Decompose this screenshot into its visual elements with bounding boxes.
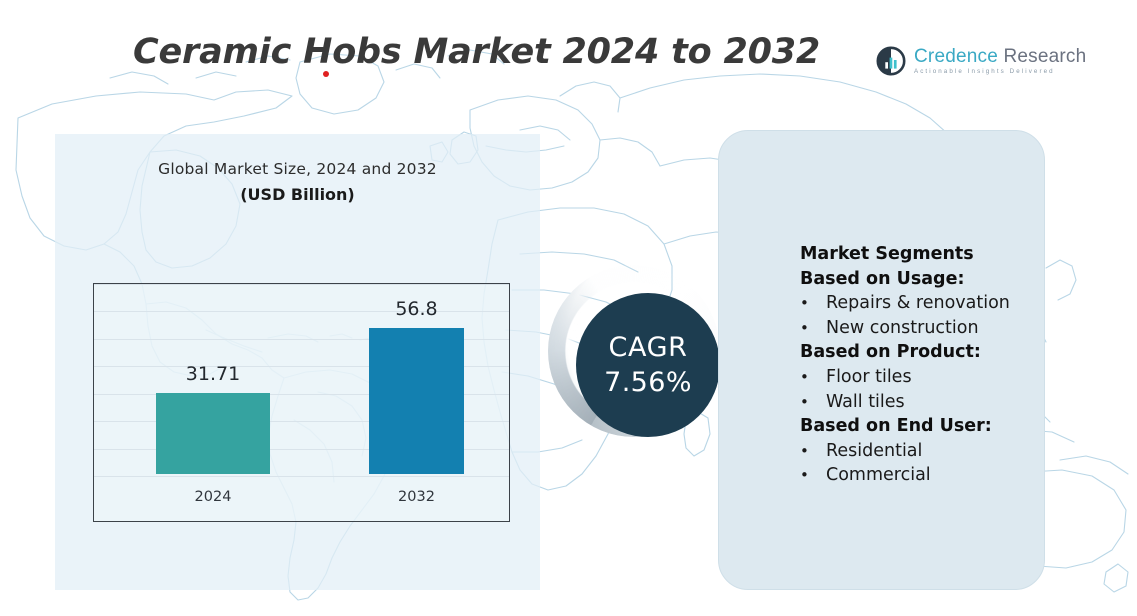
logo-name: Credence Research — [914, 47, 1086, 66]
bullet-icon: • — [800, 390, 826, 415]
segment-list-item: •New construction — [800, 316, 1060, 341]
segment-item-label: Repairs & renovation — [826, 291, 1010, 316]
chart-bar — [156, 393, 270, 474]
logo-text: Credence Research Actionable Insights De… — [914, 47, 1086, 75]
bar-category-label: 2032 — [369, 489, 464, 505]
segment-list-item: •Repairs & renovation — [800, 291, 1060, 316]
page-title: Ceramic Hobs Market 2024 to 2032 — [133, 32, 820, 72]
segment-item-label: Commercial — [826, 463, 931, 488]
chart-heading: Global Market Size, 2024 and 2032 (USD B… — [55, 160, 540, 204]
bar-category-label: 2024 — [156, 489, 270, 505]
cagr-label: CAGR — [609, 332, 688, 363]
logo-tagline: Actionable Insights Delivered — [914, 69, 1086, 75]
segment-item-label: Wall tiles — [826, 390, 905, 415]
segment-item-label: New construction — [826, 316, 979, 341]
bar-chart-circle-icon — [876, 46, 906, 76]
segments-list: Market SegmentsBased on Usage:•Repairs &… — [800, 242, 1060, 488]
bullet-icon: • — [800, 291, 826, 316]
chart-plot-area: 31.71202456.82032 — [94, 284, 509, 521]
cagr-value: 7.56% — [604, 367, 692, 398]
chart-bar — [369, 328, 464, 474]
bar-group: 31.712024 — [156, 393, 270, 474]
bar-value-label: 31.71 — [156, 363, 270, 385]
bullet-icon: • — [800, 316, 826, 341]
segment-group-heading: Based on Usage: — [800, 267, 1060, 292]
cagr-circle: CAGR 7.56% — [576, 293, 720, 437]
infographic-canvas: Ceramic Hobs Market 2024 to 2032 Credenc… — [0, 0, 1137, 616]
bullet-icon: • — [800, 439, 826, 464]
segment-list-item: •Floor tiles — [800, 365, 1060, 390]
map-marker-dot — [323, 71, 329, 77]
logo-name-secondary: Research — [1003, 46, 1086, 67]
bullet-icon: • — [800, 365, 826, 390]
segment-item-label: Residential — [826, 439, 922, 464]
bullet-icon: • — [800, 463, 826, 488]
segment-list-item: •Commercial — [800, 463, 1060, 488]
chart-heading-line1: Global Market Size, 2024 and 2032 — [55, 160, 540, 178]
segments-title: Market Segments — [800, 242, 1060, 267]
segment-item-label: Floor tiles — [826, 365, 912, 390]
bar-group: 56.82032 — [369, 328, 464, 474]
logo-name-primary: Credence — [914, 46, 998, 67]
segment-group-heading: Based on Product: — [800, 340, 1060, 365]
segment-group-heading: Based on End User: — [800, 414, 1060, 439]
segment-list-item: •Wall tiles — [800, 390, 1060, 415]
bar-value-label: 56.8 — [369, 298, 464, 320]
segment-list-item: •Residential — [800, 439, 1060, 464]
brand-logo[interactable]: Credence Research Actionable Insights De… — [876, 46, 1086, 76]
bar-chart: 31.71202456.82032 — [93, 283, 510, 522]
chart-heading-line2: (USD Billion) — [55, 185, 540, 204]
